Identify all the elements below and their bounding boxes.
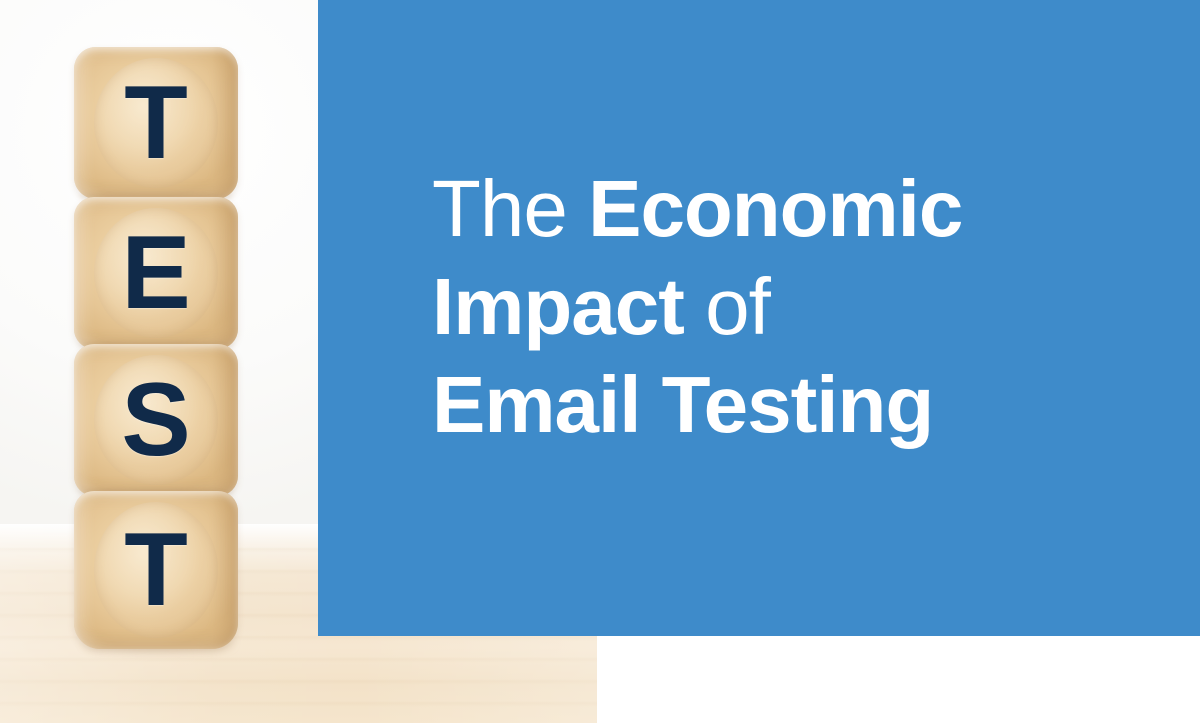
blue-title-panel: The Economic Impact of Email Testing xyxy=(318,0,1200,636)
bottom-white-strip xyxy=(597,636,1200,723)
block-letter-glyph: T xyxy=(74,491,238,649)
title-line-2-bold: Impact xyxy=(432,262,705,351)
wooden-block-letter-e: E xyxy=(74,197,238,349)
block-letter-glyph: E xyxy=(74,197,238,349)
wooden-block-letter-s: S xyxy=(74,344,238,496)
title-line-3: Email Testing xyxy=(432,356,1162,454)
title-line-1: The Economic xyxy=(432,160,1162,258)
block-letter-glyph: T xyxy=(74,47,238,199)
title-line-2: Impact of xyxy=(432,258,1162,356)
title-line-1-bold: Economic xyxy=(588,164,962,253)
wooden-block-stack: T E S T xyxy=(74,47,238,643)
page-title: The Economic Impact of Email Testing xyxy=(432,160,1162,454)
wooden-block-letter-t-bottom: T xyxy=(74,491,238,649)
title-line-1-light: The xyxy=(432,164,588,253)
title-line-2-light: of xyxy=(705,262,770,351)
hero-banner: T E S T The Economic Impact of Email Tes… xyxy=(0,0,1200,723)
wooden-block-letter-t-top: T xyxy=(74,47,238,199)
title-line-3-bold: Email Testing xyxy=(432,360,933,449)
block-letter-glyph: S xyxy=(74,344,238,496)
